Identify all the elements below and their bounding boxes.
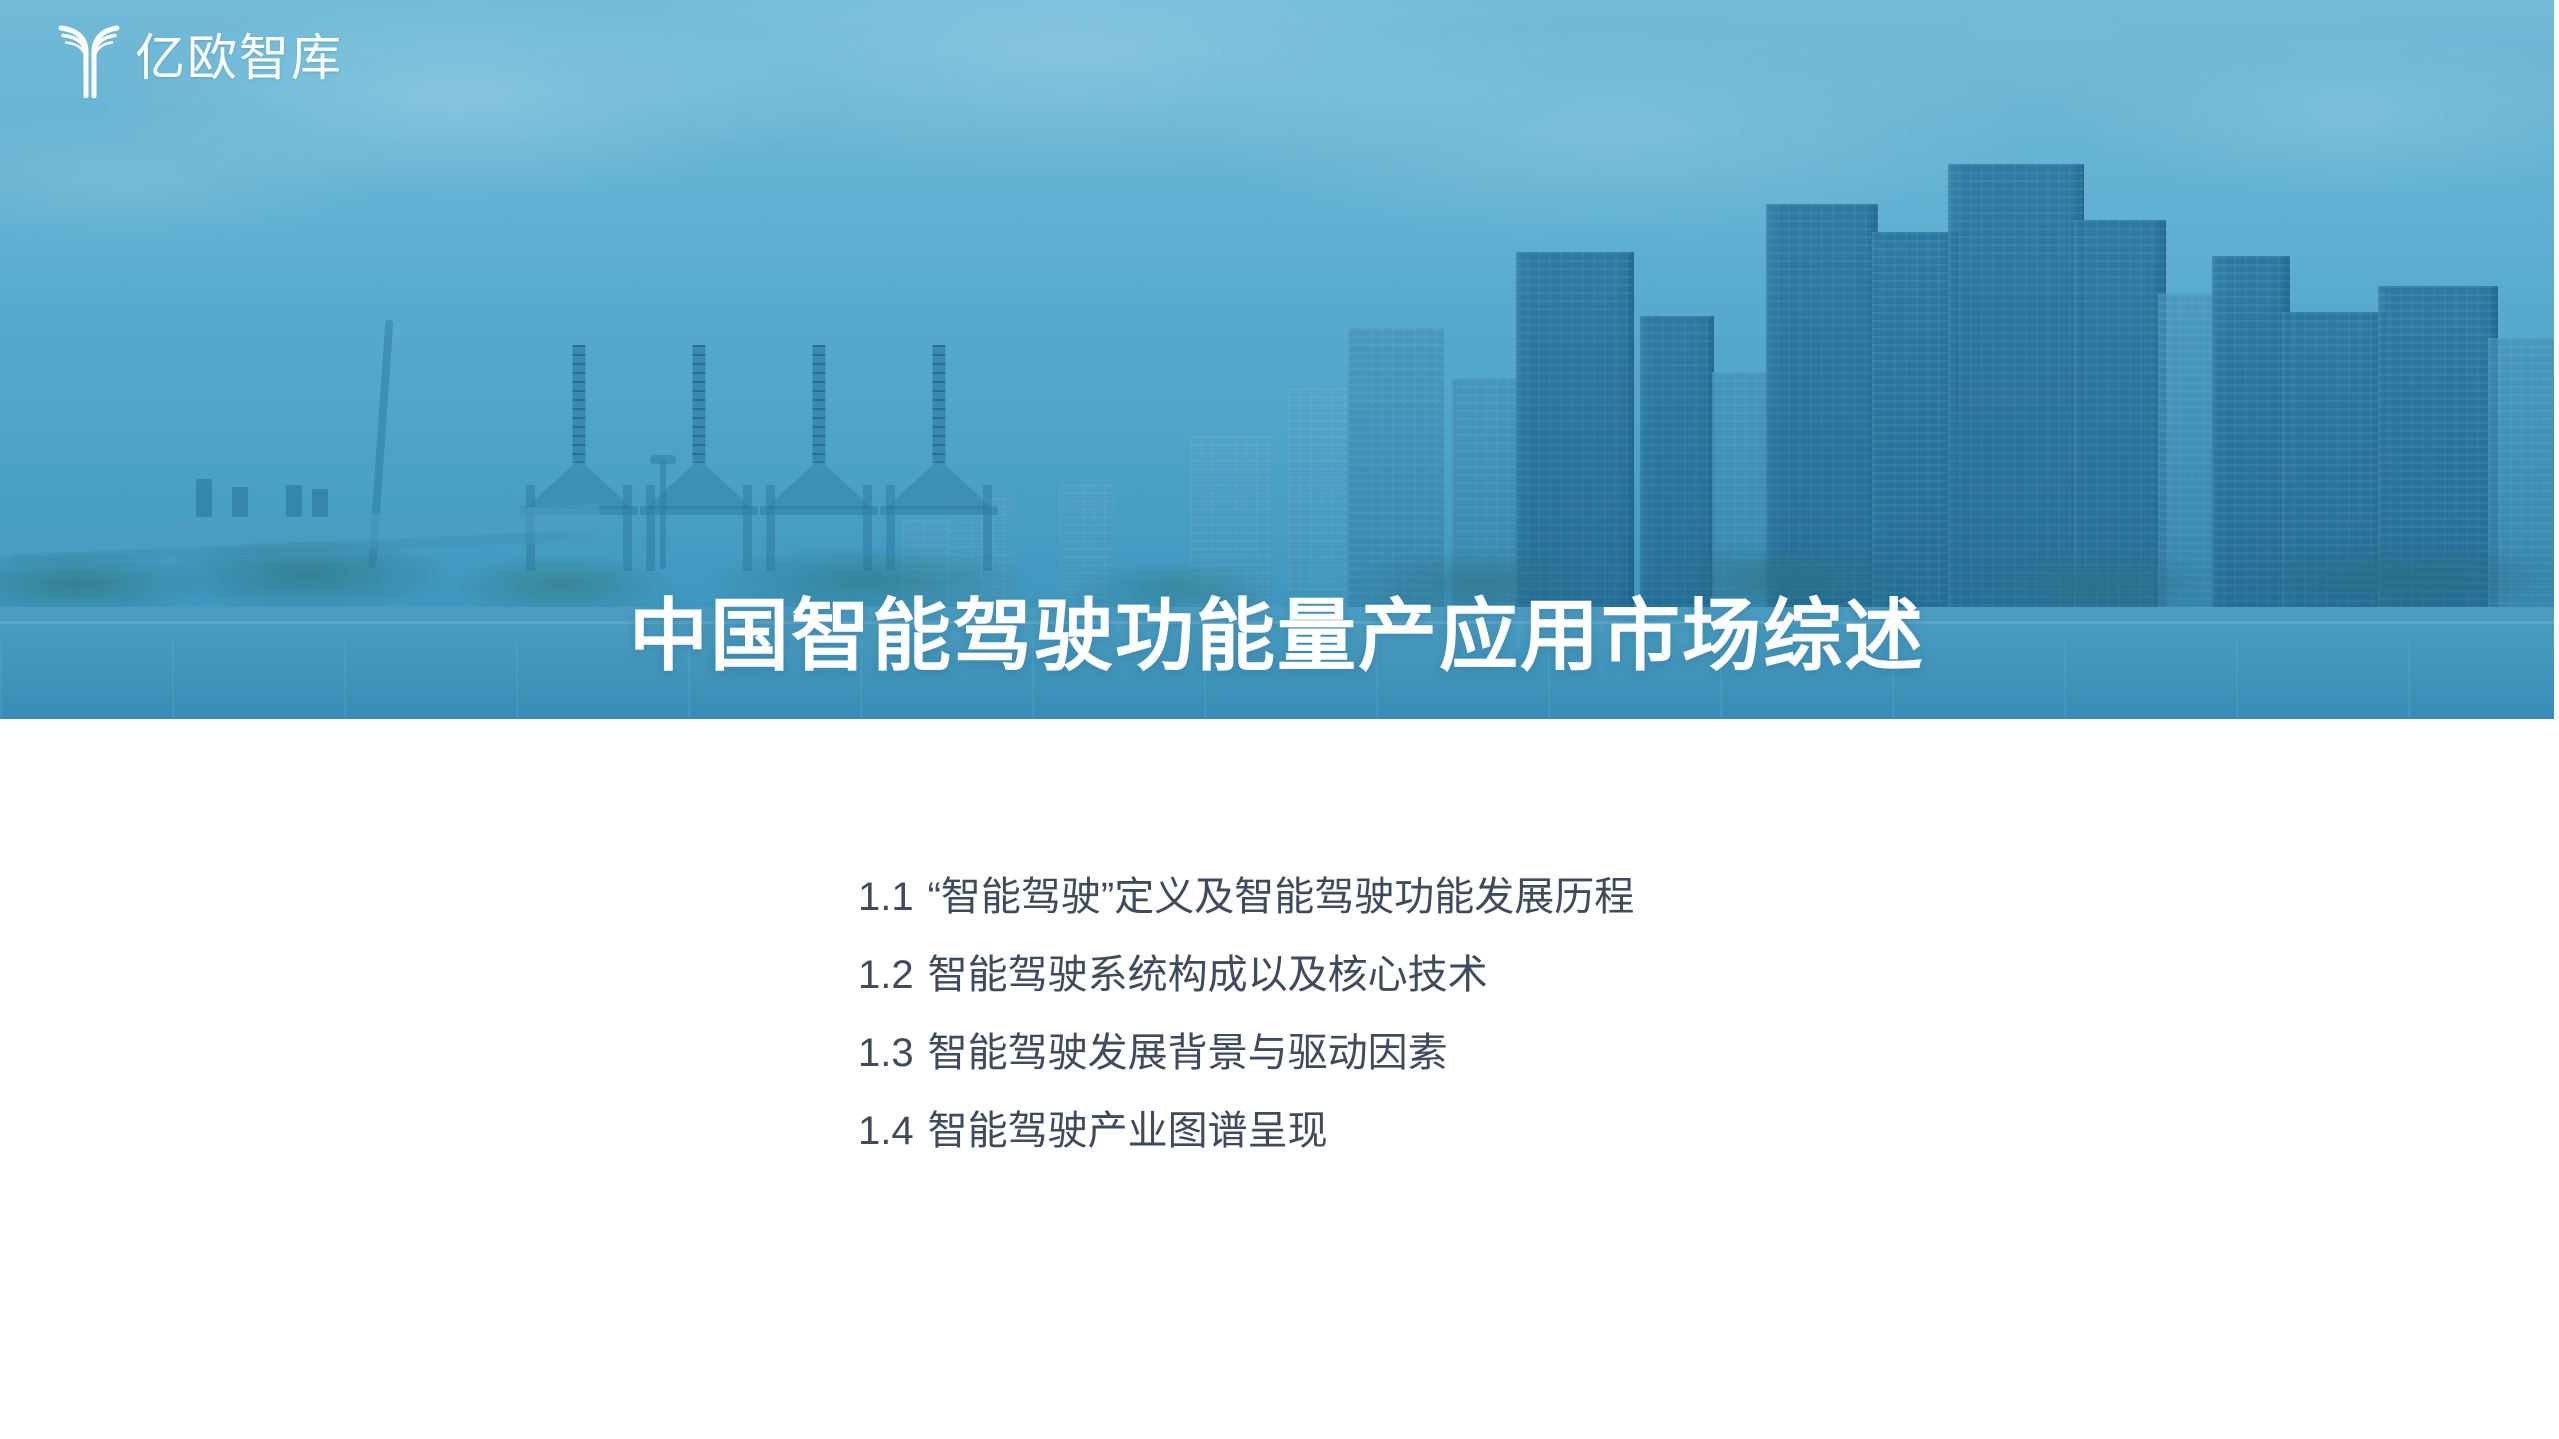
agenda-item-number: 1.3 [858,1014,914,1092]
list-item[interactable]: 1.3 智能驾驶发展背景与驱动因素 [858,1014,1634,1092]
agenda-item-number: 1.4 [858,1092,914,1170]
brand-logo: 亿欧智库 [55,18,343,98]
list-item[interactable]: 1.4 智能驾驶产业图谱呈现 [858,1092,1634,1170]
list-item[interactable]: 1.1 “智能驾驶”定义及智能驾驶功能发展历程 [858,858,1634,936]
agenda-item-label: 智能驾驶发展背景与驱动因素 [928,1014,1448,1092]
brand-name: 亿欧智库 [135,33,343,83]
page-title: 中国智能驾驶功能量产应用市场综述 [0,592,2554,680]
slide-root: 亿欧智库 中国智能驾驶功能量产应用市场综述 1.1 “智能驾驶”定义及智能驾驶功… [0,0,2559,1439]
agenda-item-number: 1.1 [858,858,914,936]
list-item[interactable]: 1.2 智能驾驶系统构成以及核心技术 [858,936,1634,1014]
agenda-list: 1.1 “智能驾驶”定义及智能驾驶功能发展历程 1.2 智能驾驶系统构成以及核心… [858,858,1634,1170]
agenda-item-label: 智能驾驶系统构成以及核心技术 [928,936,1488,1014]
agenda-item-label: “智能驾驶”定义及智能驾驶功能发展历程 [928,858,1635,936]
agenda-item-label: 智能驾驶产业图谱呈现 [928,1092,1328,1170]
hero-banner: 亿欧智库 中国智能驾驶功能量产应用市场综述 [0,0,2554,719]
y-branch-logo-icon [55,18,121,98]
agenda-item-number: 1.2 [858,936,914,1014]
